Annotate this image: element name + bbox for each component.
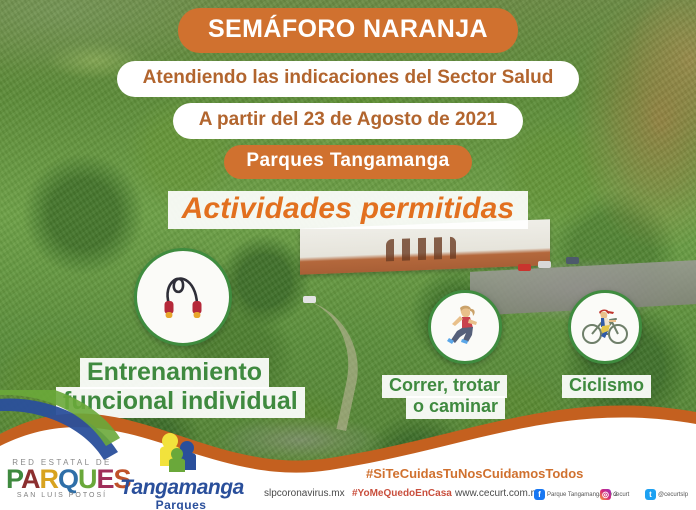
hashtag-main: #SiTeCuidasTuNosCuidamosTodos [366, 466, 583, 481]
start-date-banner: A partir del 23 de Agosto de 2021 [173, 103, 523, 139]
parques-name-banner: Parques Tangamanga [224, 145, 471, 179]
section-title: Actividades permitidas [168, 191, 529, 229]
logo-red-estatal-parques: RED ESTATAL DE PARQUES SAN LUIS POTOSÍ [6, 458, 118, 499]
tangamanga-name: Tangamanga [120, 476, 242, 500]
sector-salud-banner: Atendiendo las indicaciones del Sector S… [117, 61, 580, 97]
activity-label-entrenamiento-line1: Entrenamiento [80, 358, 269, 389]
instagram-handle: cecurt [613, 492, 629, 498]
url-cecurt[interactable]: www.cecurt.com.mx [455, 488, 544, 499]
building-arches [386, 237, 456, 262]
car [538, 261, 551, 268]
social-link-instagram[interactable]: ◎ cecurt [600, 489, 629, 500]
twitter-icon: t [645, 489, 656, 500]
activity-circle-correr [428, 290, 502, 364]
social-link-twitter[interactable]: t @cecurtslp [645, 489, 688, 500]
car [566, 257, 579, 264]
header-block: SEMÁFORO NARANJA Atendiendo las indicaci… [0, 8, 696, 229]
hashtag-secondary: #YoMeQuedoEnCasa [352, 488, 452, 499]
car [303, 296, 316, 303]
url-slpcoronavirus[interactable]: slpcoronavirus.mx [264, 488, 345, 499]
logo-wordmark: PARQUES [6, 467, 118, 492]
tangamanga-family-mark [120, 432, 242, 476]
instagram-icon: ◎ [600, 489, 611, 500]
logo-tangamanga: Tangamanga Parques [120, 432, 242, 510]
twitter-handle: @cecurtslp [658, 492, 688, 498]
jump-rope-icon [152, 264, 214, 331]
running-person-icon [442, 302, 488, 353]
page-title: SEMÁFORO NARANJA [178, 8, 518, 53]
car [518, 264, 531, 271]
poster-canvas: SEMÁFORO NARANJA Atendiendo las indicaci… [0, 0, 696, 510]
cyclist-icon [580, 300, 630, 355]
logo-tagline-bottom: SAN LUIS POTOSÍ [6, 492, 118, 499]
facebook-icon: f [534, 489, 545, 500]
activity-circle-entrenamiento [134, 248, 232, 346]
activity-circle-ciclismo [568, 290, 642, 364]
